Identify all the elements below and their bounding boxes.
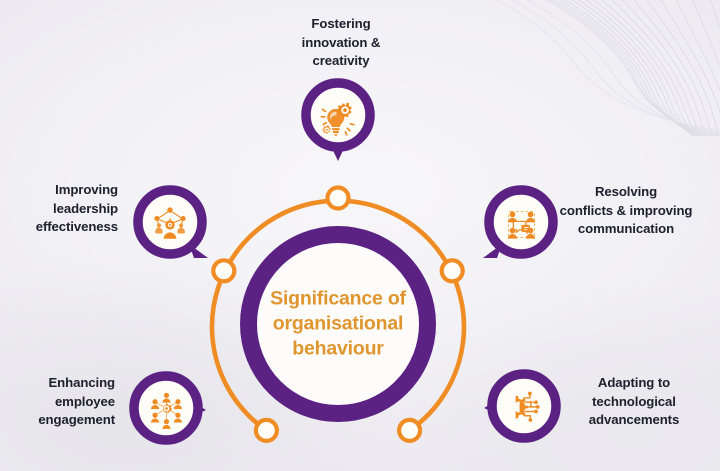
- gear-circuit-icon: [498, 380, 550, 432]
- label-engagement: Enhancing employee engagement: [12, 374, 115, 430]
- ring-connector-node: [399, 420, 420, 441]
- node-technology[interactable]: [482, 364, 566, 448]
- label-leadership: Improving leadership effectiveness: [18, 181, 118, 237]
- node-leadership[interactable]: [128, 182, 212, 266]
- node-engagement[interactable]: [124, 366, 208, 450]
- ring-connector-node: [213, 260, 234, 281]
- infographic-canvas: Significance of organisational behaviour: [0, 0, 720, 471]
- label-technology: Adapting to technological advancements: [576, 374, 692, 430]
- ring-connector-node: [442, 260, 463, 281]
- label-communication: Resolving conflicts & improving communic…: [556, 183, 696, 239]
- label-innovation: Fostering innovation & creativity: [286, 15, 396, 71]
- people-circle-icon: [140, 382, 192, 434]
- team-chat-icon: [495, 198, 547, 250]
- ring-connector-node: [256, 420, 277, 441]
- lightbulb-gears-icon: [312, 93, 364, 145]
- page-title: Significance of organisational behaviour: [250, 287, 426, 362]
- ring-connector-node: [328, 188, 349, 209]
- leadership-network-icon: [144, 198, 196, 250]
- wave-ribbon-lines-icon: [402, 0, 720, 136]
- node-communication[interactable]: [479, 182, 563, 266]
- node-innovation[interactable]: [296, 77, 380, 161]
